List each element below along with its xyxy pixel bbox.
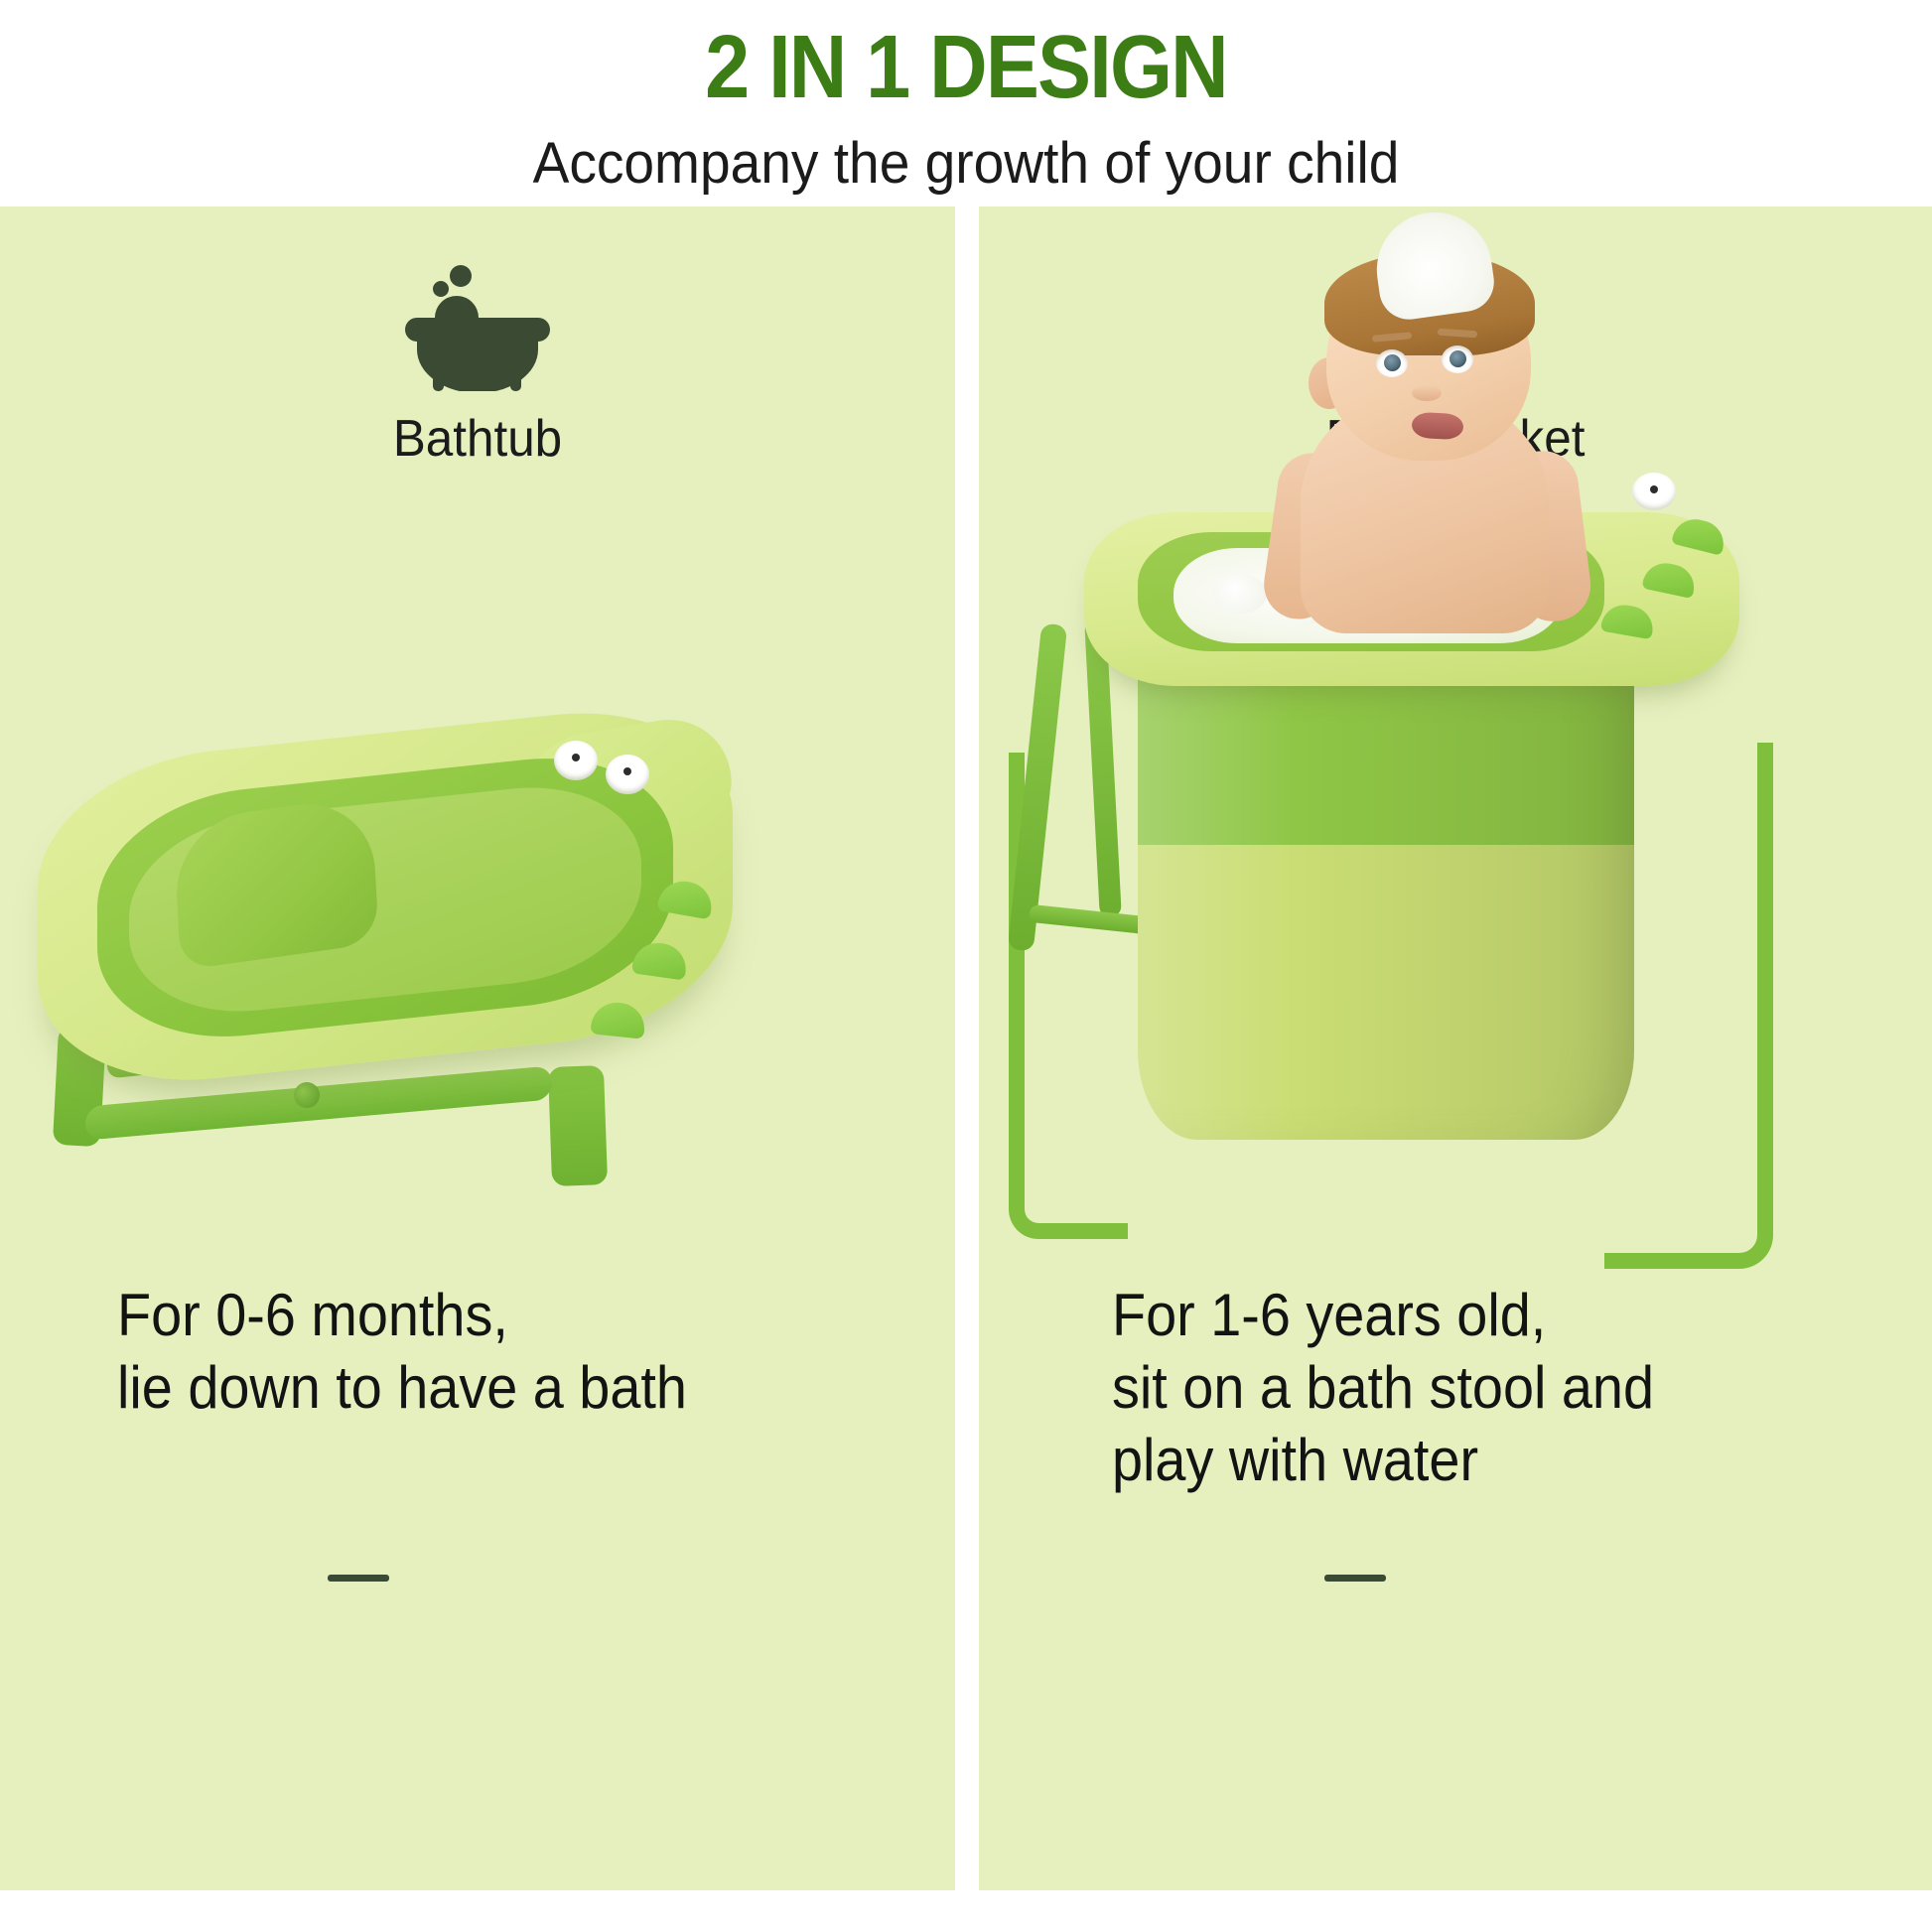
page-subtitle: Accompany the growth of your child: [49, 113, 1884, 199]
bathtub-icon: [383, 242, 572, 391]
panel-container: Bathtub For 0-6 months, lie down to have…: [0, 207, 1932, 1932]
tub-eye-icon: [606, 755, 649, 794]
product-image-bathtub: [38, 733, 822, 1160]
header: 2 IN 1 DESIGN Accompany the growth of yo…: [0, 0, 1932, 207]
tub-eye-icon: [1632, 473, 1676, 510]
bathtub-icon-block: Bathtub: [0, 242, 955, 469]
baby-photo: [1217, 246, 1634, 663]
divider-dash-right: [1324, 1575, 1386, 1582]
product-image-bath-bucket: [989, 326, 1882, 1398]
panel-bath-bucket[interactable]: Bath bucket: [979, 207, 1932, 1890]
panel-bathtub[interactable]: Bathtub For 0-6 months, lie down to have…: [0, 207, 955, 1890]
caption-bath-bucket: For 1-6 years old, sit on a bath stool a…: [1112, 1279, 1654, 1496]
divider-dash-left: [328, 1575, 389, 1582]
tub-eye-icon: [554, 741, 598, 780]
bathtub-icon-wrap: [0, 242, 955, 391]
bathtub-icon-label: Bathtub: [24, 409, 931, 469]
page-title: 2 IN 1 DESIGN: [96, 0, 1835, 113]
caption-bathtub: For 0-6 months, lie down to have a bath: [117, 1279, 687, 1424]
bucket-body: [1138, 614, 1634, 1140]
